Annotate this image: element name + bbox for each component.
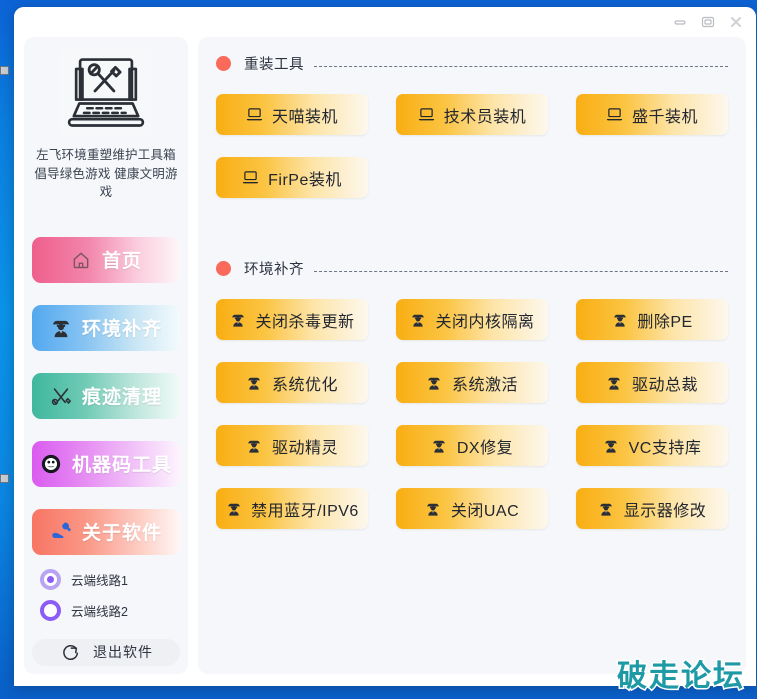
radio-indicator xyxy=(40,600,61,621)
tool-button-driver-zongcai[interactable]: 驱动总裁 xyxy=(576,362,728,403)
section-bullet-icon xyxy=(216,56,231,71)
section-header-environment: 环境补齐 xyxy=(216,258,728,279)
environment-button-grid: 关闭杀毒更新 关闭内核隔离 xyxy=(216,299,728,529)
laptop-icon xyxy=(242,169,259,186)
agent-icon xyxy=(603,437,620,454)
laptop-icon xyxy=(246,106,263,123)
tool-button-monitor-modify[interactable]: 显示器修改 xyxy=(576,488,728,529)
agent-icon xyxy=(431,437,448,454)
sidebar-item-label: 首页 xyxy=(102,246,142,273)
tool-button-disable-bluetooth-ipv6[interactable]: 禁用蓝牙/IPV6 xyxy=(216,488,368,529)
sidebar-item-machine-code[interactable]: 机器码工具 xyxy=(32,441,180,487)
close-button[interactable] xyxy=(722,11,750,33)
laptop-tools-icon xyxy=(47,47,165,136)
exit-button-label: 退出软件 xyxy=(93,642,153,662)
agent-icon xyxy=(246,437,263,454)
section-spacer xyxy=(216,198,728,258)
brand-title: 左飞环境重塑维护工具箱 xyxy=(32,146,180,164)
sidebar-item-label: 痕迹清理 xyxy=(82,382,162,409)
tool-button-dx-repair[interactable]: DX修复 xyxy=(396,425,548,466)
desktop-icon-partial-bottom[interactable] xyxy=(0,474,9,483)
sidebar-item-about[interactable]: 关于软件 xyxy=(32,509,180,555)
home-icon xyxy=(70,249,92,271)
desktop-icon-partial-top[interactable] xyxy=(0,66,9,75)
tool-button-label: 关闭内核隔离 xyxy=(435,308,534,332)
section-divider xyxy=(314,66,728,67)
radio-cloud-route-2[interactable]: 云端线路2 xyxy=(32,600,180,621)
laptop-icon xyxy=(418,106,435,123)
agent-icon xyxy=(611,311,628,328)
sidebar-item-label: 环境补齐 xyxy=(82,314,162,341)
tool-button-shengqian[interactable]: 盛千装机 xyxy=(576,94,728,135)
forum-watermark: 破走论坛 xyxy=(617,651,745,695)
radio-cloud-route-1[interactable]: 云端线路1 xyxy=(32,569,180,590)
tool-button-label: 禁用蓝牙/IPV6 xyxy=(251,497,359,521)
tool-button-vc-runtime[interactable]: VC支持库 xyxy=(576,425,728,466)
radio-indicator xyxy=(40,569,61,590)
minimize-button[interactable] xyxy=(666,11,694,33)
sidebar-item-label: 机器码工具 xyxy=(72,450,172,477)
section-title: 重装工具 xyxy=(244,53,304,74)
tool-button-label: 关闭UAC xyxy=(451,497,519,521)
tool-button-label: DX修复 xyxy=(457,434,513,458)
sidebar-item-label: 关于软件 xyxy=(82,518,162,545)
tools-icon xyxy=(50,385,72,407)
wrench-hand-icon xyxy=(50,521,72,543)
section-header-reinstall: 重装工具 xyxy=(216,53,728,74)
tool-button-disable-core-isolation[interactable]: 关闭内核隔离 xyxy=(396,299,548,340)
laptop-icon xyxy=(606,106,623,123)
sidebar-item-trace-clean[interactable]: 痕迹清理 xyxy=(32,373,180,419)
tool-button-disable-uac[interactable]: 关闭UAC xyxy=(396,488,548,529)
agent-icon xyxy=(229,311,246,328)
application-window: 左飞环境重塑维护工具箱 倡导绿色游戏 健康文明游戏 首页 xyxy=(14,7,756,686)
chip-icon xyxy=(40,453,62,475)
agent-icon xyxy=(426,374,443,391)
tool-button-label: 驱动总裁 xyxy=(632,371,698,395)
tool-button-firpe[interactable]: FirPe装机 xyxy=(216,157,368,198)
tool-button-delete-pe[interactable]: 删除PE xyxy=(576,299,728,340)
sidebar-item-home[interactable]: 首页 xyxy=(32,237,180,283)
tool-button-label: 系统优化 xyxy=(272,371,338,395)
tool-button-disable-av-update[interactable]: 关闭杀毒更新 xyxy=(216,299,368,340)
tool-button-label: 系统激活 xyxy=(452,371,518,395)
agent-icon xyxy=(246,374,263,391)
tool-button-driver-genius[interactable]: 驱动精灵 xyxy=(216,425,368,466)
tool-button-label: 关闭杀毒更新 xyxy=(255,308,354,332)
tool-button-label: 盛千装机 xyxy=(632,103,698,127)
tool-button-jishuyuan[interactable]: 技术员装机 xyxy=(396,94,548,135)
tool-button-label: 天喵装机 xyxy=(272,103,338,127)
tool-button-label: 删除PE xyxy=(637,308,692,332)
agent-icon xyxy=(225,500,242,517)
tool-button-label: 驱动精灵 xyxy=(272,434,338,458)
exit-button[interactable]: 退出软件 xyxy=(32,639,180,666)
radio-label: 云端线路2 xyxy=(71,601,128,620)
agent-icon xyxy=(409,311,426,328)
detective-icon xyxy=(50,317,72,339)
tool-button-label: FirPe装机 xyxy=(268,166,342,190)
sidebar-item-environment[interactable]: 环境补齐 xyxy=(32,305,180,351)
maximize-button[interactable] xyxy=(694,11,722,33)
agent-icon xyxy=(598,500,615,517)
tool-button-label: 显示器修改 xyxy=(624,497,707,521)
section-title: 环境补齐 xyxy=(244,258,304,279)
window-body: 左飞环境重塑维护工具箱 倡导绿色游戏 健康文明游戏 首页 xyxy=(14,37,756,686)
tool-button-system-optimize[interactable]: 系统优化 xyxy=(216,362,368,403)
desktop-background: 左飞环境重塑维护工具箱 倡导绿色游戏 健康文明游戏 首页 xyxy=(0,0,757,699)
agent-icon xyxy=(606,374,623,391)
refresh-arrow-icon xyxy=(59,641,81,663)
title-bar xyxy=(14,7,756,37)
sidebar-nav: 首页 环境补齐 xyxy=(32,237,180,569)
agent-icon xyxy=(425,500,442,517)
reinstall-button-grid: 天喵装机 技术员装机 xyxy=(216,94,728,198)
brand-subtitle: 倡导绿色游戏 健康文明游戏 xyxy=(32,165,180,201)
radio-label: 云端线路1 xyxy=(71,570,128,589)
main-panel: 重装工具 天喵装机 xyxy=(198,37,746,674)
tool-button-label: VC支持库 xyxy=(629,434,702,458)
tool-button-system-activate[interactable]: 系统激活 xyxy=(396,362,548,403)
section-divider xyxy=(314,271,728,272)
tool-button-tianmiao[interactable]: 天喵装机 xyxy=(216,94,368,135)
sidebar: 左飞环境重塑维护工具箱 倡导绿色游戏 健康文明游戏 首页 xyxy=(24,37,188,674)
section-bullet-icon xyxy=(216,261,231,276)
tool-button-label: 技术员装机 xyxy=(444,103,527,127)
